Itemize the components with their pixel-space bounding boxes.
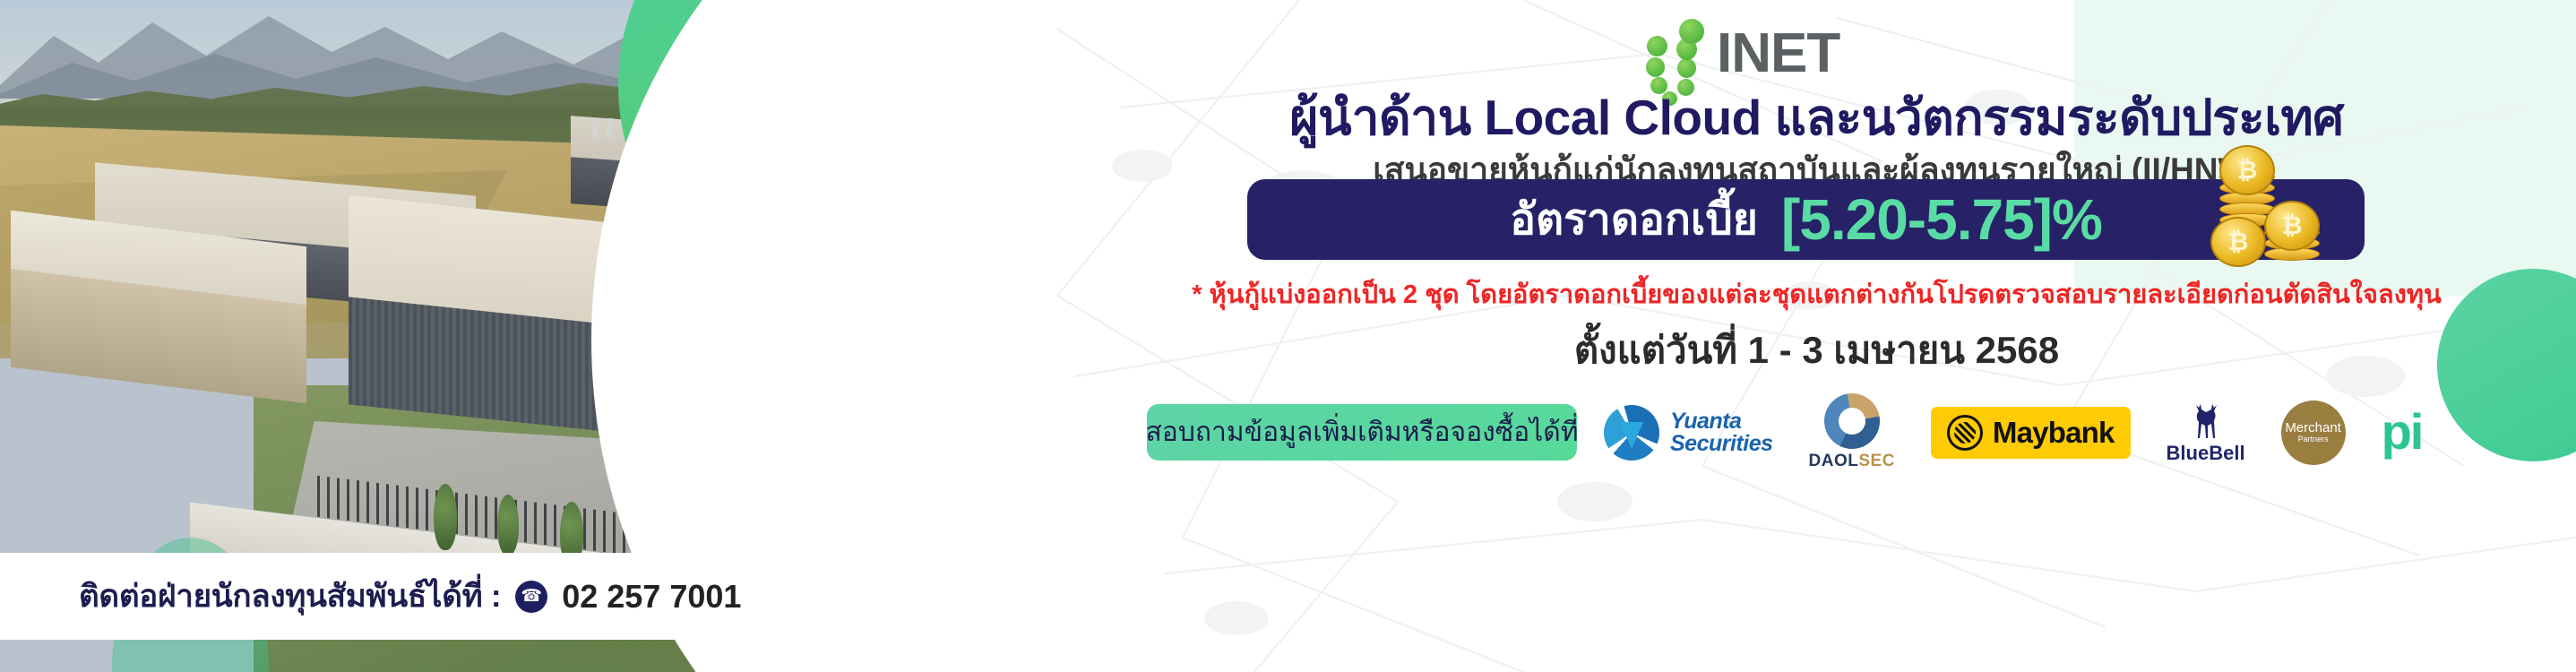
- maybank-wordmark: Maybank: [1993, 416, 2115, 450]
- partner-logo-merchant-partners[interactable]: Merchant Partners: [2281, 401, 2346, 465]
- promo-banner: ติดต่อฝ่ายนักลงทุนสัมพันธ์ได้ที่ : ☎ 02 …: [0, 0, 2576, 672]
- pi-wordmark: pi: [2382, 412, 2423, 452]
- interest-rate-box: อัตราดอกเบี้ย [5.20-5.75]% ₿ ₿ ₿: [1247, 179, 2365, 260]
- phone-icon: ☎: [515, 581, 547, 613]
- maybank-tiger-icon: [1947, 415, 1983, 451]
- photo-tree: [434, 484, 457, 550]
- partner-logo-yuanta[interactable]: Yuanta Securities: [1604, 405, 1773, 461]
- interest-rate-value: [5.20-5.75]%: [1781, 186, 2102, 253]
- bluebell-wordmark: BlueBell: [2167, 442, 2245, 465]
- partner-logo-pi[interactable]: pi: [2382, 412, 2423, 452]
- daol-wordmark: DAOLSEC: [1809, 452, 1895, 471]
- contact-phone-number[interactable]: 02 257 7001: [562, 578, 741, 616]
- disclaimer-text: * หุ้นกู้แบ่งออกเป็น 2 ชุด โดยอัตราดอกเบ…: [1057, 273, 2576, 314]
- yuanta-wordmark: Yuanta Securities: [1670, 410, 1773, 454]
- content-panel: INET ผู้นำด้าน Local Cloud และนวัตกรรมระ…: [1057, 0, 2576, 672]
- merchant-line2: Partners: [2298, 435, 2329, 444]
- partner-logo-maybank[interactable]: Maybank: [1931, 407, 2131, 459]
- daol-line2: SEC: [1858, 452, 1895, 470]
- bluebell-deer-icon: [2186, 401, 2226, 440]
- partner-logo-bluebell[interactable]: BlueBell: [2167, 401, 2245, 465]
- inet-logo: INET: [1631, 16, 1926, 84]
- partner-logo-daol[interactable]: DAOLSEC: [1809, 393, 1895, 471]
- contact-label: ติดต่อฝ่ายนักลงทุนสัมพันธ์ได้ที่ :: [79, 572, 501, 621]
- bitcoin-coins-icon: ₿ ₿ ₿: [2212, 158, 2334, 276]
- inet-dots-logo-icon: [1631, 16, 1719, 84]
- contact-cta-button[interactable]: สอบถามข้อมูลเพิ่มเติมหรือจองซื้อได้ที่: [1147, 404, 1577, 461]
- investor-contact-box: ติดต่อฝ่ายนักลงทุนสัมพันธ์ได้ที่ : ☎ 02 …: [0, 553, 838, 640]
- offering-date: ตั้งแต่วันที่ 1 - 3 เมษายน 2568: [1057, 321, 2576, 380]
- interest-rate-label: อัตราดอกเบี้ย: [1510, 185, 1758, 254]
- white-fill-mask: [945, 0, 1057, 672]
- inet-wordmark: INET: [1717, 22, 1839, 85]
- merchant-line1: Merchant: [2285, 421, 2341, 435]
- yuanta-logo-icon: [1604, 405, 1659, 461]
- photo-tree: [497, 495, 519, 556]
- daol-logo-icon: [1824, 393, 1880, 449]
- yuanta-line2: Securities: [1670, 431, 1773, 456]
- partner-row: สอบถามข้อมูลเพิ่มเติมหรือจองซื้อได้ที่ Y…: [1057, 385, 2576, 479]
- partner-logos: Yuanta Securities DAOLSEC Maybank: [1604, 393, 2422, 471]
- daol-line1: DAOL: [1809, 452, 1859, 470]
